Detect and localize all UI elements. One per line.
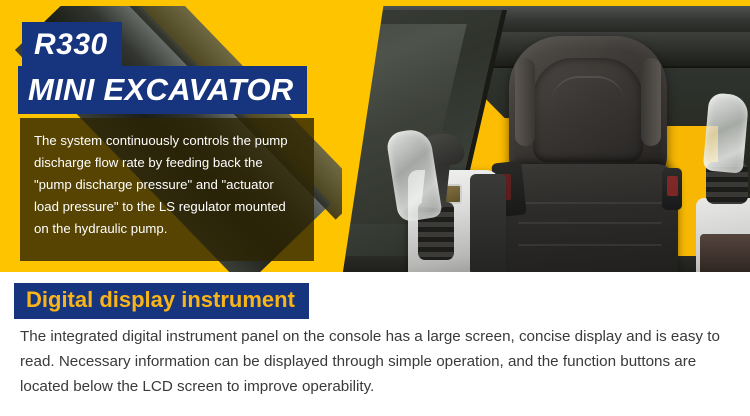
- seat-bolster-left: [515, 58, 535, 146]
- seatbelt-strap-right: [667, 176, 678, 196]
- hero-banner-inner: R330 MINI EXCAVATOR The system continuou…: [6, 6, 750, 272]
- seat-stitch-line: [518, 244, 662, 246]
- seat-stitch-line: [518, 202, 662, 204]
- seat-bolster-right: [641, 58, 661, 146]
- feature-section: Digital display instrument The integrate…: [0, 272, 750, 416]
- feature-body: The integrated digital instrument panel …: [20, 324, 732, 399]
- right-joystick-plastic-wrap: [703, 92, 750, 173]
- section-heading: Digital display instrument: [14, 283, 309, 319]
- hero-description-box: The system continuously controls the pum…: [20, 118, 314, 261]
- product-type-badge: MINI EXCAVATOR: [18, 66, 307, 114]
- seat-stitch-line: [518, 222, 662, 224]
- hero-banner: R330 MINI EXCAVATOR The system continuou…: [0, 0, 750, 272]
- cab-interior-photo: [342, 6, 750, 272]
- model-badge: R330: [22, 22, 122, 69]
- operator-seat-cushion: [502, 164, 678, 272]
- right-console-body: [700, 234, 750, 272]
- hero-description-text: The system continuously controls the pum…: [34, 130, 300, 240]
- feature-paragraph: The integrated digital instrument panel …: [20, 324, 732, 399]
- product-feature-page: R330 MINI EXCAVATOR The system continuou…: [0, 0, 750, 416]
- left-console-armrest: [470, 174, 506, 272]
